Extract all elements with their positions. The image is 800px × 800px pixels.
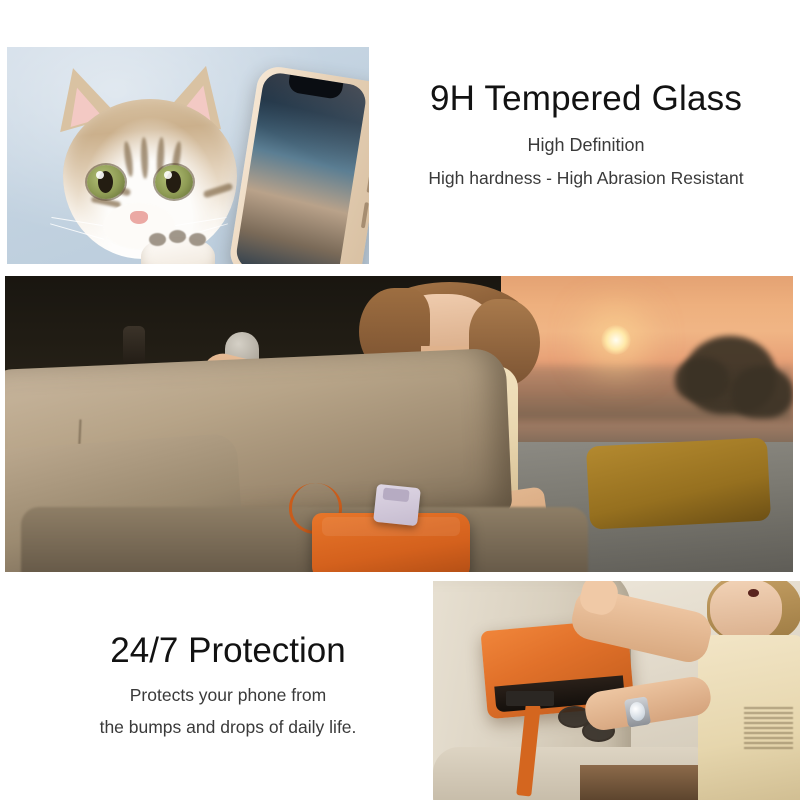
product-feature-page: 9H Tempered Glass High Definition High h… (0, 0, 800, 800)
phone-notch (287, 75, 343, 100)
cat-toe (189, 233, 206, 246)
photo-cat-phone (7, 47, 369, 264)
headline-24-7-protection: 24/7 Protection (28, 632, 428, 671)
phone-power-button (361, 202, 369, 228)
phone-camera-module (383, 488, 410, 502)
photo-living-room-sunset (5, 276, 793, 572)
vase-decor (123, 326, 145, 368)
open-mouth (748, 589, 759, 597)
woman-tank-top (698, 635, 800, 800)
cat-eye-glint (164, 171, 172, 179)
cat-paw (141, 237, 215, 264)
watch-face (629, 701, 647, 722)
kitten-illustration (45, 61, 255, 264)
tree-silhouette (675, 357, 729, 401)
feature-text-protection: 24/7 Protection Protects your phone from… (28, 632, 428, 738)
cat-stripe (140, 137, 148, 179)
photo-bag-spill (433, 581, 800, 800)
sun-icon (601, 325, 631, 355)
headline-tempered-glass: 9H Tempered Glass (380, 80, 792, 119)
cat-stripe (203, 183, 234, 199)
cat-eye-right (155, 165, 193, 199)
feature-text-tempered-glass: 9H Tempered Glass High Definition High h… (380, 80, 792, 189)
smartphone-being-stored (373, 484, 421, 527)
tank-top-print (744, 707, 793, 752)
subtext-high-definition: High Definition (380, 135, 792, 157)
cat-toe (169, 230, 186, 243)
cat-toe (149, 233, 166, 246)
woman-face-shocked (710, 581, 781, 642)
mustard-pillow (586, 437, 771, 529)
subtext-protects-your-phone: Protects your phone from (28, 685, 428, 706)
phone-volume-button (366, 166, 369, 192)
cat-eye-glint (96, 171, 104, 179)
cat-stripe (123, 141, 135, 178)
wallet-falling-out (506, 691, 554, 706)
tree-silhouette (731, 366, 793, 418)
cat-eye-left (87, 165, 125, 199)
phone-screen (234, 71, 368, 264)
subtext-bumps-and-drops: the bumps and drops of daily life. (28, 717, 428, 738)
shocked-woman (646, 581, 800, 800)
cat-nose (130, 211, 148, 224)
subtext-high-hardness: High hardness - High Abrasion Resistant (380, 168, 792, 189)
